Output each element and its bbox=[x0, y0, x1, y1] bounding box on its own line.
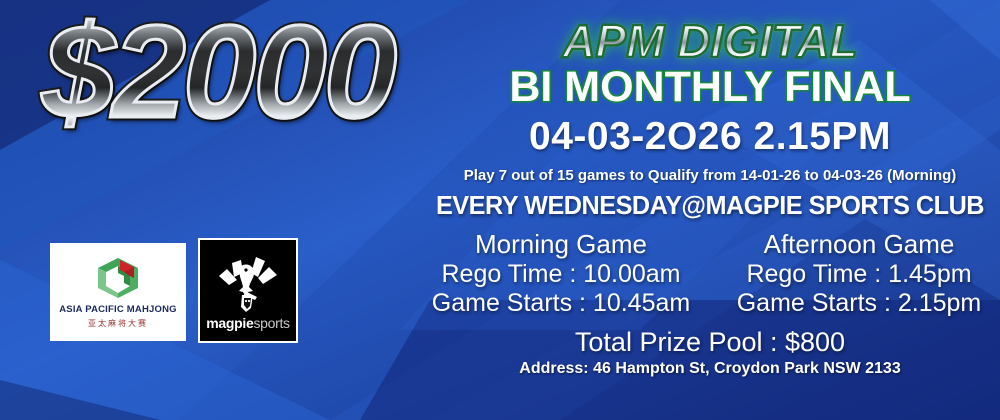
info-column: APM DIGITAL BI MONTHLY FINAL 04-03-2O26 … bbox=[420, 0, 1000, 378]
logo-magpie-word-bold: magpie bbox=[206, 315, 253, 331]
session-title: Afternoon Game bbox=[719, 229, 999, 260]
event-title: BI MONTHLY FINAL bbox=[420, 66, 1000, 109]
promo-banner: $2000 $2000 APM DIGITAL BI MONTHLY FINAL… bbox=[0, 0, 1000, 420]
venue-line: EVERY WEDNESDAY@MAGPIE SPORTS CLUB bbox=[429, 190, 992, 221]
venue-address: Address: 46 Hampton St, Croydon Park NSW… bbox=[420, 360, 1000, 378]
session-start-time: Game Starts : 10.45am bbox=[421, 289, 701, 319]
logo-asia-pacific-mahjong: ASIA PACIFIC MAHJONG 亚太麻将大赛 bbox=[50, 243, 186, 341]
logo-apm-name: ASIA PACIFIC MAHJONG bbox=[59, 304, 176, 315]
logo-magpie-wordmark: magpiesports bbox=[206, 315, 290, 331]
session-rego-time: Rego Time : 1.45pm bbox=[719, 260, 999, 290]
session-title: Morning Game bbox=[421, 229, 701, 260]
prize-pool: Total Prize Pool : $800 bbox=[420, 327, 1000, 358]
session-start-time: Game Starts : 2.15pm bbox=[719, 289, 999, 319]
event-datetime: 04-03-2O26 2.15PM bbox=[420, 115, 1000, 159]
logo-apm-chinese: 亚太麻将大赛 bbox=[88, 318, 148, 329]
session-afternoon: Afternoon Game Rego Time : 1.45pm Game S… bbox=[719, 229, 999, 319]
mahjong-cube-icon bbox=[94, 256, 142, 298]
logo-magpie-word-light: sports bbox=[253, 315, 289, 331]
prize-amount: $2000 bbox=[8, 6, 428, 138]
logo-magpie-sports: magpiesports bbox=[198, 238, 298, 343]
session-list: Morning Game Rego Time : 10.00am Game St… bbox=[420, 229, 1000, 319]
session-rego-time: Rego Time : 10.00am bbox=[421, 260, 701, 290]
magpie-bird-icon bbox=[215, 251, 281, 313]
brand-title: APM DIGITAL bbox=[420, 18, 1000, 64]
qualification-note: Play 7 out of 15 games to Qualify from 1… bbox=[420, 167, 1000, 184]
session-morning: Morning Game Rego Time : 10.00am Game St… bbox=[421, 229, 701, 319]
